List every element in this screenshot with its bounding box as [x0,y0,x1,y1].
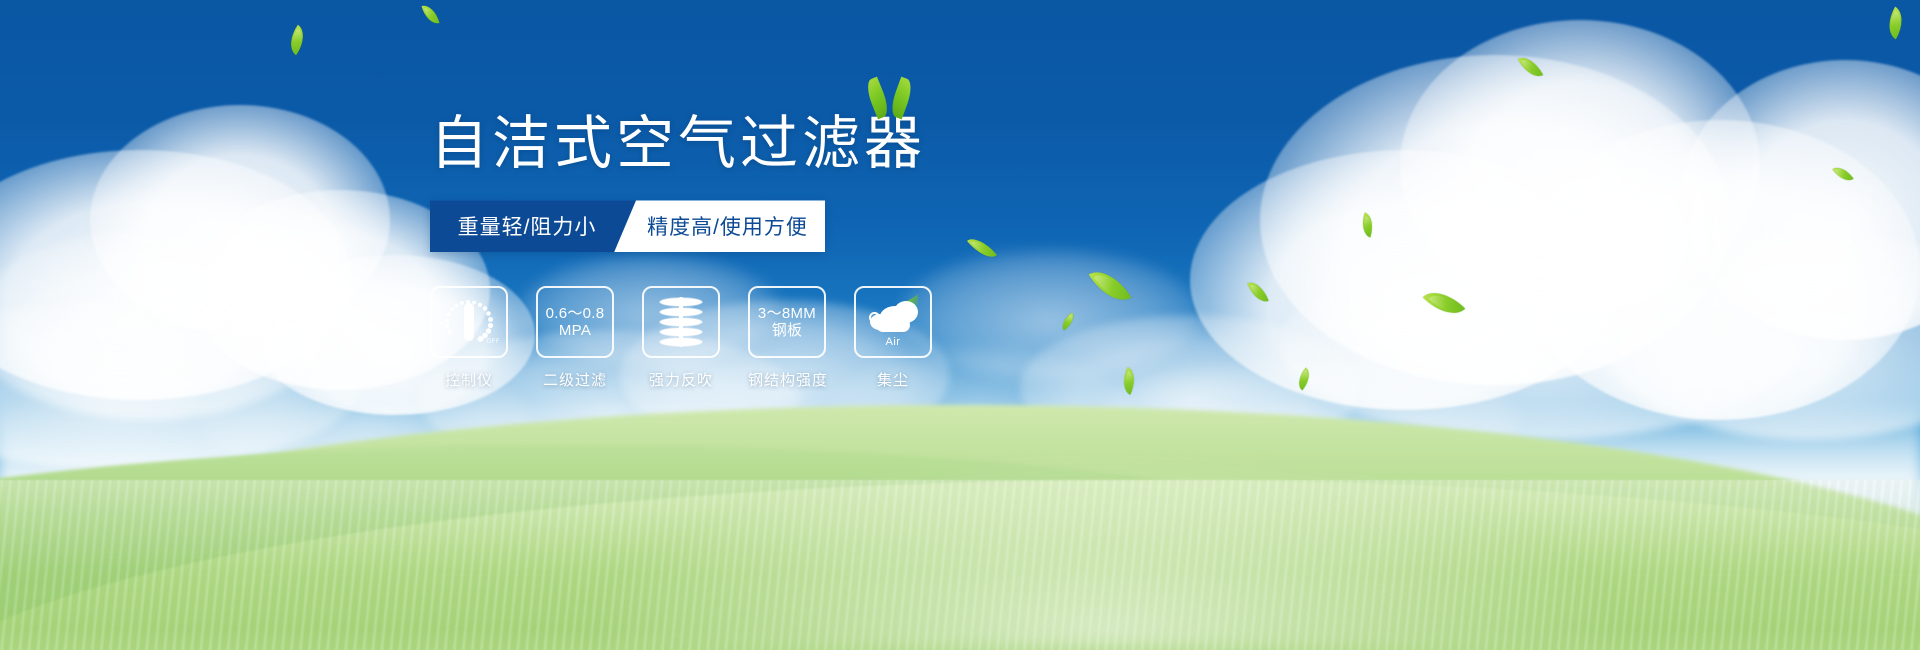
feature-list: NO OFF 控制仪 0.6～0.8 MPA 二级过滤 [430,286,1090,390]
floating-leaf-icon [283,25,311,55]
feature-caption: 控制仪 [430,369,508,390]
feature-icon-box: 0.6～0.8 MPA [536,286,614,358]
cloud-shape [1680,60,1920,340]
grass-ground-layer [0,350,1920,650]
feature-item-steel[interactable]: 3～8MM 钢板 钢结构强度 [748,286,826,390]
tagline-badges: 重量轻/阻力小 精度高/使用方便 [430,200,825,252]
tagline-secondary: 精度高/使用方便 [614,200,825,252]
filter-disc [660,328,702,336]
cloud-puff [876,318,910,332]
hero-banner: 自洁式空气过滤器 重量轻/阻力小 精度高/使用方便 [0,0,1920,650]
cloud-shape [90,105,390,335]
grass-highlight [576,450,1632,650]
pressure-value-line1: 0.6～0.8 [546,305,605,323]
cloud-shape [1260,55,1730,385]
feature-item-control[interactable]: NO OFF 控制仪 [430,286,508,390]
floating-leaf-icon [1518,52,1543,82]
feature-icon-box: Air [854,286,932,358]
feature-item-pressure[interactable]: 0.6～0.8 MPA 二级过滤 [536,286,614,390]
feature-caption: 集尘 [854,369,932,390]
filter-disc [660,308,702,316]
floating-leaf-icon [422,3,440,27]
air-label: Air [866,336,920,348]
page-title: 自洁式空气过滤器 [430,110,926,178]
sprout-leaves-icon [868,76,918,118]
tagline-primary: 重量轻/阻力小 [430,200,636,252]
steel-value-line1: 3～8MM [758,305,816,323]
floating-leaf-icon [1358,213,1377,238]
floating-leaf-icon [1423,282,1465,324]
floating-leaf-icon [1832,162,1853,185]
feature-item-blowback[interactable]: 强力反吹 [642,286,720,390]
banner-content: 自洁式空气过滤器 重量轻/阻力小 精度高/使用方便 [430,110,1090,390]
floating-leaf-icon [1247,278,1268,305]
gauge-control-icon: NO OFF [440,295,498,349]
gauge-label-on: NO [439,322,449,328]
pressure-value-line2: MPA [559,322,591,340]
floating-leaf-icon [1881,7,1910,40]
floating-leaf-icon [1089,262,1132,310]
steel-value-line2: 钢板 [772,322,803,340]
feature-caption: 二级过滤 [536,369,614,390]
gauge-needle [464,303,474,341]
gauge-label-off: OFF [487,339,501,345]
feature-icon-box [642,286,720,358]
cloud-shape [1400,20,1760,310]
feature-icon-box: NO OFF [430,286,508,358]
filter-disc [660,298,702,306]
sprout-blade-right [888,77,916,120]
sprout-blade-left [863,77,892,120]
feature-caption: 钢结构强度 [748,369,826,390]
title-wrapper: 自洁式空气过滤器 [430,110,926,178]
filter-stack-icon [658,297,704,347]
feature-icon-box: 3～8MM 钢板 [748,286,826,358]
feature-item-dust[interactable]: Air 集尘 [854,286,932,390]
filter-disc [660,338,702,346]
feature-caption: 强力反吹 [642,369,720,390]
air-cloud-icon: Air [866,298,920,346]
filter-disc [660,318,702,326]
